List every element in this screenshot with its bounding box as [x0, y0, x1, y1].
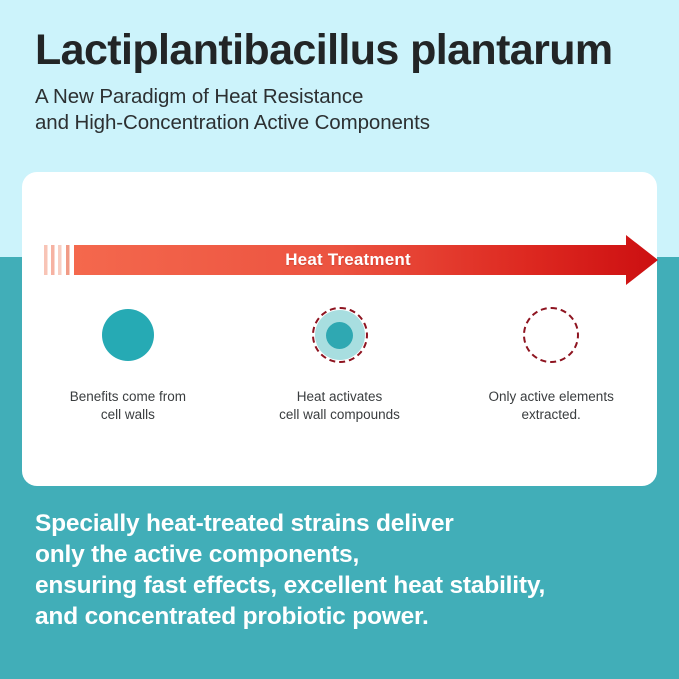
step-item: Heat activates cell wall compounds [234, 300, 446, 424]
step-1-icon-slot [93, 300, 163, 370]
step-3-caption-line-2: extracted. [489, 406, 614, 424]
step-item: Only active elements extracted. [445, 300, 657, 424]
header: Lactiplantibacillus plantarum A New Para… [35, 24, 655, 136]
step-2-caption-line-1: Heat activates [279, 388, 400, 406]
page-title: Lactiplantibacillus plantarum [35, 24, 655, 76]
infographic-poster: Lactiplantibacillus plantarum A New Para… [0, 0, 679, 679]
subtitle-line-2: and High-Concentration Active Components [35, 110, 655, 136]
solid-teal-circle-icon [102, 309, 154, 361]
subtitle-line-1: A New Paradigm of Heat Resistance [35, 84, 655, 110]
summary-statement: Specially heat-treated strains deliver o… [35, 508, 655, 632]
dashed-ring-empty-icon [523, 307, 579, 363]
statement-line-3: ensuring fast effects, excellent heat st… [35, 570, 655, 601]
step-1-caption: Benefits come from cell walls [70, 388, 186, 424]
step-3-caption: Only active elements extracted. [489, 388, 614, 424]
steps-row: Benefits come from cell walls Heat activ… [22, 300, 657, 424]
step-3-caption-line-1: Only active elements [489, 388, 614, 406]
arrow-icon [38, 234, 658, 286]
step-2-icon-slot [305, 300, 375, 370]
step-3-icon-slot [516, 300, 586, 370]
statement-line-4: and concentrated probiotic power. [35, 601, 655, 632]
page-subtitle: A New Paradigm of Heat Resistance and Hi… [35, 84, 655, 136]
statement-line-2: only the active components, [35, 539, 655, 570]
dashed-ring-icon [312, 307, 368, 363]
step-2-caption: Heat activates cell wall compounds [279, 388, 400, 424]
process-card: Heat Treatment Benefits come from cell w… [22, 172, 657, 486]
step-2-caption-line-2: cell wall compounds [279, 406, 400, 424]
heat-treatment-arrow: Heat Treatment [38, 234, 658, 286]
step-1-caption-line-1: Benefits come from [70, 388, 186, 406]
step-1-caption-line-2: cell walls [70, 406, 186, 424]
statement-line-1: Specially heat-treated strains deliver [35, 508, 655, 539]
step-item: Benefits come from cell walls [22, 300, 234, 424]
